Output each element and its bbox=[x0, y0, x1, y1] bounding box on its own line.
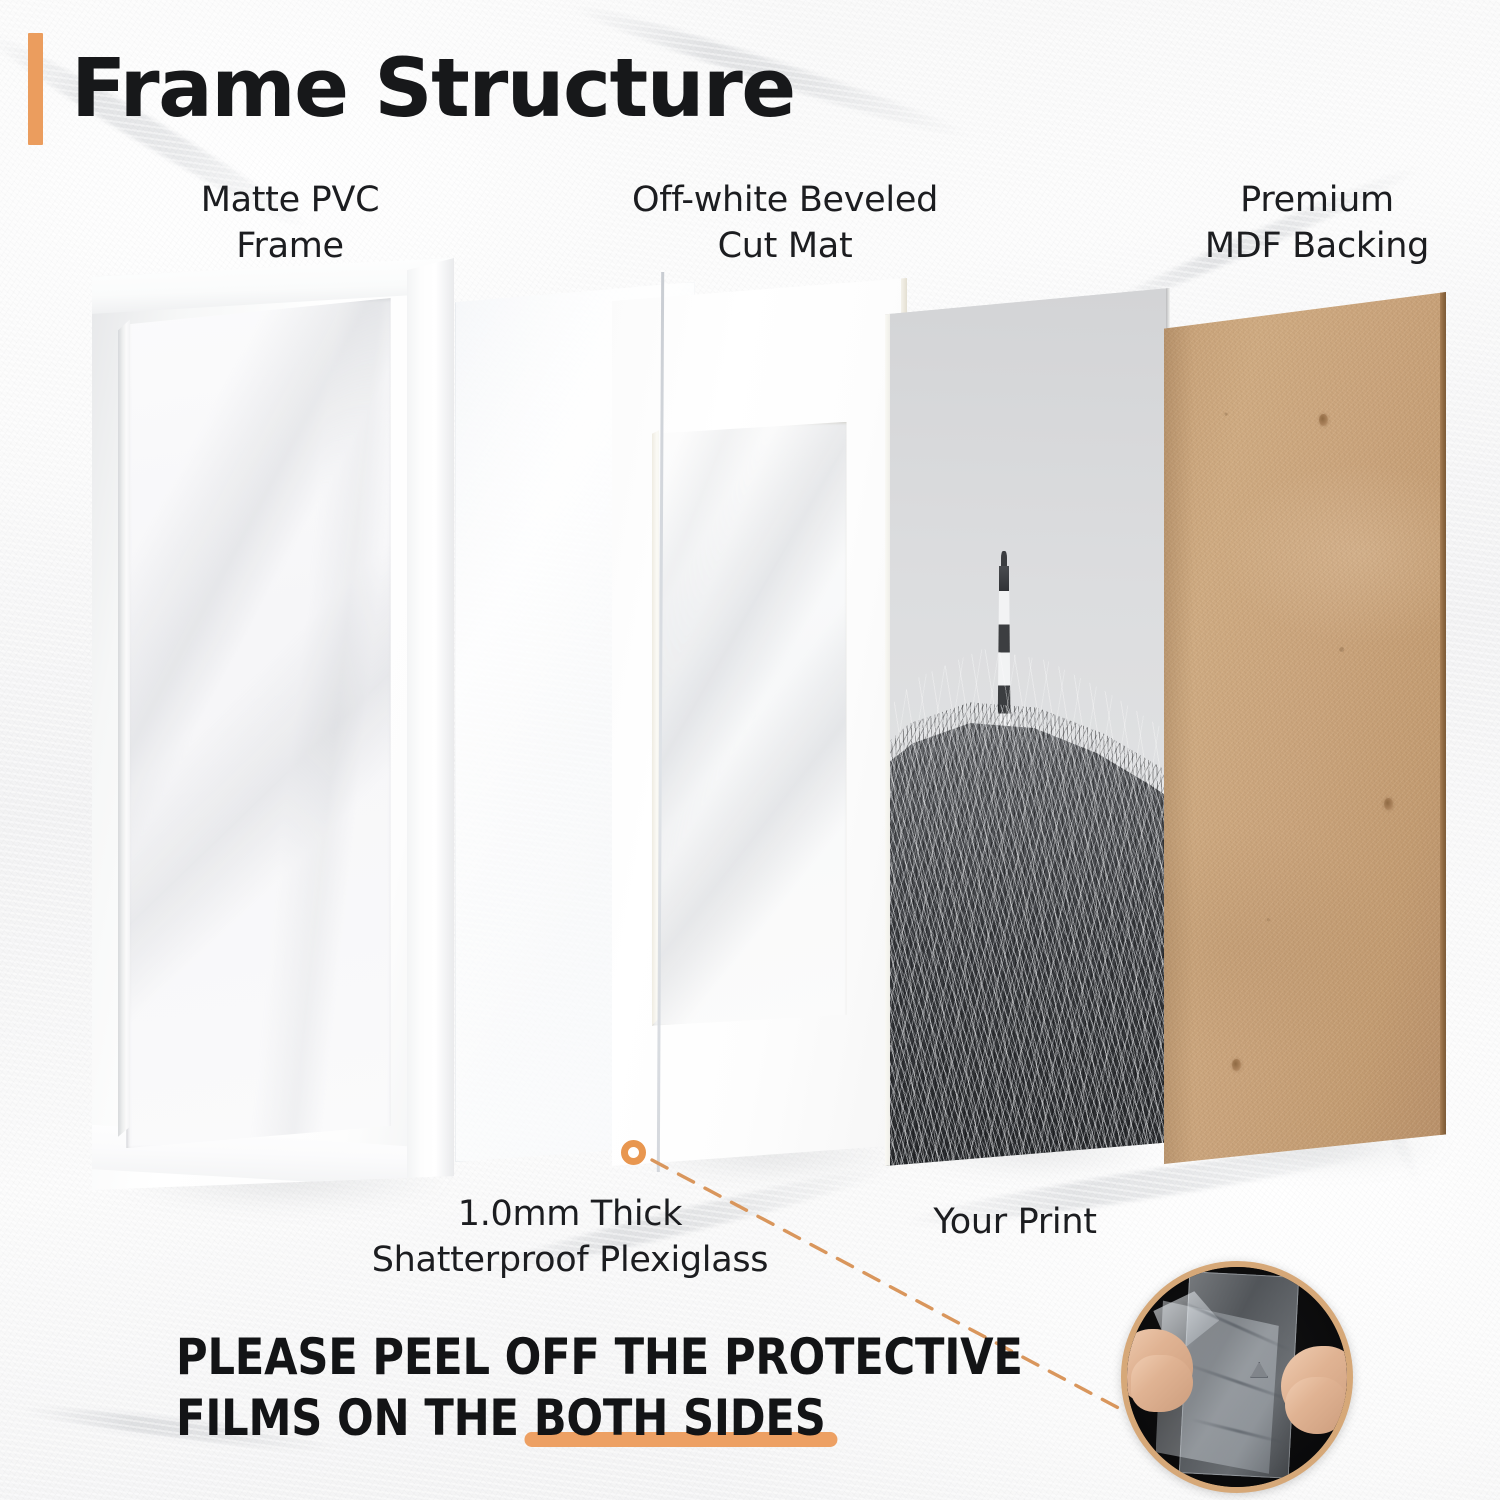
frame-side-profile bbox=[407, 258, 454, 1190]
label-your-print: Your Print bbox=[880, 1200, 1150, 1246]
mdf-knot-mark bbox=[1319, 414, 1328, 426]
frame-opening-seethrough bbox=[126, 298, 390, 1148]
caption-line-2: FILMS ON THE BOTH SIDES bbox=[176, 1388, 1040, 1449]
layer-cut-mat[interactable] bbox=[612, 278, 907, 1166]
layer-mdf-backing[interactable] bbox=[1164, 292, 1446, 1164]
frame-inner-lip bbox=[118, 301, 130, 1145]
mat-opening-seethrough bbox=[652, 422, 847, 1026]
print-left-edge bbox=[885, 288, 890, 1166]
mdf-knot-mark bbox=[1384, 798, 1393, 810]
bottom-caption: PLEASE PEEL OFF THE PROTECTIVE FILMS ON … bbox=[176, 1327, 1076, 1449]
caption-highlight: BOTH SIDES bbox=[534, 1388, 826, 1449]
mdf-knot-mark bbox=[1232, 1059, 1241, 1071]
frame-opening bbox=[126, 298, 390, 1148]
mdf-fiber-texture bbox=[1164, 292, 1446, 1164]
mdf-right-edge bbox=[1440, 292, 1446, 1164]
caption-line-1: PLEASE PEEL OFF THE PROTECTIVE bbox=[176, 1327, 1040, 1388]
caption-line-2-prefix: FILMS ON THE bbox=[176, 1389, 534, 1447]
label-matte-pvc-frame: Matte PVC Frame bbox=[120, 178, 460, 269]
label-cut-mat: Off-white Beveled Cut Mat bbox=[565, 178, 1005, 269]
label-plexiglass: 1.0mm Thick Shatterproof Plexiglass bbox=[270, 1192, 870, 1283]
caption-highlight-text: BOTH SIDES bbox=[534, 1389, 826, 1447]
protective-film-inset[interactable] bbox=[1121, 1261, 1353, 1493]
callout-dot-marker[interactable] bbox=[621, 1140, 646, 1165]
mdf-left-shading bbox=[1164, 292, 1194, 1164]
inset-right-fingers bbox=[1285, 1377, 1347, 1434]
mat-window-opening bbox=[652, 422, 847, 1026]
layer-pvc-frame[interactable] bbox=[92, 258, 454, 1190]
layer-print-photo[interactable] bbox=[885, 288, 1170, 1166]
label-mdf-backing: Premium MDF Backing bbox=[1122, 178, 1500, 269]
infographic-canvas: Frame Structure bbox=[0, 0, 1500, 1500]
